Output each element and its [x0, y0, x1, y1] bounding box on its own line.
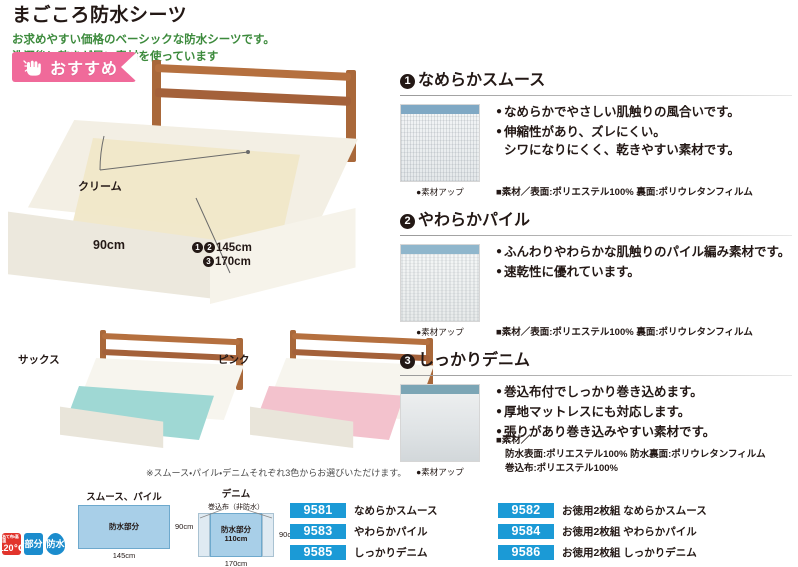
section-1-material-line-1: ■素材／表面:ポリエステル100% 裏面:ポリウレタンフィルム: [496, 184, 798, 198]
section-2-bullet-1-line-1: ふんわりやわらかな肌触りのパイル編み素材です。: [504, 244, 790, 262]
section-2-material: ■素材／表面:ポリエステル100% 裏面:ポリウレタンフィルム: [496, 324, 798, 338]
size-value-170: 170cm: [215, 256, 251, 268]
small-bed-sax: [60, 330, 250, 450]
subtitle-line-1: お求めやすい価格のベーシックな防水シーツです。: [12, 32, 392, 49]
color-choice-footnote: ※スムース・パイル・デニムそれぞれ3色からお選びいただけます。: [146, 466, 406, 479]
pink-color-label: ピンク: [218, 352, 250, 367]
product-name-9586: お徳用2枚組 しっかりデニム: [562, 545, 697, 560]
size-num-2: 2: [204, 242, 215, 253]
section-2-bullet-2-line-1: 速乾性に優れています。: [504, 264, 640, 282]
partial-wash-label: 部分: [24, 540, 42, 549]
diagram-2-leader-lines: [198, 508, 276, 520]
section-3-bullet-1-line-1: 巻込布付でしっかり巻き込めます。: [504, 384, 703, 402]
product-code-row[interactable]: 9585 しっかりデニム: [290, 544, 428, 561]
section-1-title: なめらかスムース: [418, 66, 545, 90]
main-bed-width-label: 90cm: [93, 238, 125, 252]
section-2-number: 2: [400, 214, 415, 229]
size-value-145: 145cm: [216, 242, 252, 254]
swatch-1-band: [401, 105, 479, 114]
iron-icon-caption: あて布・高温: [2, 535, 21, 543]
diagram-1-waterproof-label: 防水部分: [109, 523, 139, 532]
diagram-2-waterproof-size: 110cm: [225, 535, 248, 544]
section-2-divider: [400, 235, 792, 236]
section-3-bullet-2: ● 厚地マットレスにも対応します。: [496, 404, 792, 422]
product-name-9583: やわらかパイル: [354, 524, 428, 539]
product-code-row[interactable]: 9582 お徳用2枚組 なめらかスムース: [498, 502, 707, 519]
bullet-dot-icon: ●: [496, 384, 502, 400]
section-denim: 3 しっかりデニム ●素材アップ ● 巻込布付でしっかり巻き込めます。 ● 厚地…: [400, 346, 792, 478]
section-3-title: しっかりデニム: [418, 346, 530, 370]
pile-fabric-swatch: [400, 244, 480, 322]
section-3-material-line-2: 防水表面:ポリエステル100% 防水裏面:ポリウレタンフィルム: [496, 448, 798, 462]
bullet-dot-icon: ●: [496, 124, 502, 140]
section-3-swatch-caption: ●素材アップ: [400, 466, 480, 478]
bullet-dot-icon: ●: [496, 264, 502, 280]
diagram-1-height-label: 90cm: [175, 522, 193, 531]
waterproof-label: 防水: [46, 540, 64, 549]
product-code-row[interactable]: 9581 なめらかスムース: [290, 502, 437, 519]
swatch-2-band: [401, 245, 479, 254]
partial-wash-icon: 部分: [24, 533, 43, 555]
section-1-swatch-col: ●素材アップ: [400, 104, 486, 198]
section-smooth: 1 なめらかスムース ●素材アップ ● なめらかでやさしい肌触りの風合いです。 …: [400, 66, 792, 198]
swatch-3-texture: [401, 394, 479, 461]
section-3-bullet-2-line-1: 厚地マットレスにも対応します。: [504, 404, 690, 422]
care-icon-group: あて布・高温 120℃ 部分 防水: [2, 533, 65, 555]
product-code-9582[interactable]: 9582: [498, 503, 554, 518]
product-code-row[interactable]: 9586 お徳用2枚組 しっかりデニム: [498, 544, 697, 561]
size-diagram-denim: デニム 巻込布（非防水） 防水部分 110cm 90cm 170cm: [198, 486, 274, 567]
sax-headboard-rail-top: [102, 333, 240, 345]
product-name-9585: しっかりデニム: [354, 545, 428, 560]
section-pile: 2 やわらかパイル ●素材アップ ● ふんわりやわらかな肌触りのパイル編み素材で…: [400, 206, 792, 338]
product-catalog-page: まごころ防水シーツ お求めやすい価格のベーシックな防水シーツです。 洗濯後に乾き…: [0, 0, 798, 567]
main-bed-size-callout: 12145cm 3170cm: [192, 241, 252, 270]
section-2-material-line-1: ■素材／表面:ポリエステル100% 裏面:ポリウレタンフィルム: [496, 324, 798, 338]
iron-icon-value: 120℃: [0, 544, 24, 553]
section-1-number: 1: [400, 74, 415, 89]
section-3-divider: [400, 375, 792, 376]
size-diagram-smooth-pile: スムース、パイル 防水部分 90cm 145cm: [78, 489, 170, 560]
swatch-3-band: [401, 385, 479, 394]
cream-color-label: クリーム: [78, 178, 122, 194]
section-1-heading: 1 なめらかスムース: [400, 66, 792, 90]
section-2-bullet-2: ● 速乾性に優れています。: [496, 264, 792, 282]
diagram-2-title: デニム: [198, 486, 274, 500]
section-2-bullet-1: ● ふんわりやわらかな肌触りのパイル編み素材です。: [496, 244, 792, 262]
diagram-1-title: スムース、パイル: [78, 489, 170, 503]
diagram-1-figure: 防水部分 90cm 145cm: [78, 505, 170, 560]
product-code-row[interactable]: 9584 お徳用2枚組 やわらかパイル: [498, 523, 697, 540]
section-1-swatch-caption: ●素材アップ: [400, 186, 480, 198]
section-2-heading: 2 やわらかパイル: [400, 206, 792, 230]
section-1-material: ■素材／表面:ポリエステル100% 裏面:ポリウレタンフィルム: [496, 184, 798, 198]
section-3-material: ■素材／ 防水表面:ポリエステル100% 防水裏面:ポリウレタンフィルム 巻込布…: [496, 434, 798, 475]
product-name-9581: なめらかスムース: [354, 503, 437, 518]
bullet-dot-icon: ●: [496, 244, 502, 260]
smooth-fabric-swatch: [400, 104, 480, 182]
headboard-rail-bottom: [155, 88, 351, 106]
product-code-9581[interactable]: 9581: [290, 503, 346, 518]
section-3-heading: 3 しっかりデニム: [400, 346, 792, 370]
diagram-2-figure: 防水部分 110cm 90cm 170cm: [198, 513, 274, 567]
diagram-1-width-label: 145cm: [78, 551, 170, 560]
section-3-bullet-1: ● 巻込布付でしっかり巻き込めます。: [496, 384, 792, 402]
section-2-swatch-caption: ●素材アップ: [400, 326, 480, 338]
section-1-bullet-1-line-1: なめらかでやさしい肌触りの風合いです。: [504, 104, 740, 122]
size-num-1: 1: [192, 242, 203, 253]
section-1-divider: [400, 95, 792, 96]
diagram-1-waterproof-area: 防水部分: [78, 505, 170, 549]
product-code-row[interactable]: 9583 やわらかパイル: [290, 523, 428, 540]
swatch-1-texture: [401, 114, 479, 181]
section-2-title: やわらかパイル: [418, 206, 530, 230]
product-code-9585[interactable]: 9585: [290, 545, 346, 560]
section-3-swatch-col: ●素材アップ: [400, 384, 486, 478]
section-1-bullet-2-line-1: 伸縮性があり、ズレにくい。: [504, 124, 740, 142]
section-1-bullet-2: ● 伸縮性があり、ズレにくい。 シワになりにくく、乾きやすい素材です。: [496, 124, 792, 160]
diagram-2-width-label: 170cm: [198, 559, 274, 567]
waterproof-icon: 防水: [46, 533, 65, 555]
product-name-9582: お徳用2枚組 なめらかスムース: [562, 503, 707, 518]
product-code-9583[interactable]: 9583: [290, 524, 346, 539]
product-name-9584: お徳用2枚組 やわらかパイル: [562, 524, 697, 539]
section-3-number: 3: [400, 354, 415, 369]
sax-color-label: サックス: [18, 352, 60, 367]
bullet-dot-icon: ●: [496, 104, 502, 120]
bullet-dot-icon: ●: [496, 404, 502, 420]
size-num-3: 3: [203, 256, 214, 267]
section-2-swatch-col: ●素材アップ: [400, 244, 486, 338]
product-code-9584[interactable]: 9584: [498, 524, 554, 539]
main-bed-photo: クリーム 90cm 12145cm 3170cm: [0, 58, 392, 328]
page-title: まごころ防水シーツ: [12, 6, 392, 27]
denim-fabric-swatch: [400, 384, 480, 462]
section-1-bullet-2-line-2: シワになりにくく、乾きやすい素材です。: [504, 142, 740, 160]
swatch-2-texture: [401, 254, 479, 321]
headboard-rail-top: [155, 64, 351, 81]
section-3-material-line-1: ■素材／: [496, 434, 798, 448]
section-3-material-line-3: 巻込布:ポリエステル100%: [496, 462, 798, 476]
section-1-bullet-1: ● なめらかでやさしい肌触りの風合いです。: [496, 104, 792, 122]
iron-120-icon: あて布・高温 120℃: [2, 533, 21, 555]
product-code-9586[interactable]: 9586: [498, 545, 554, 560]
